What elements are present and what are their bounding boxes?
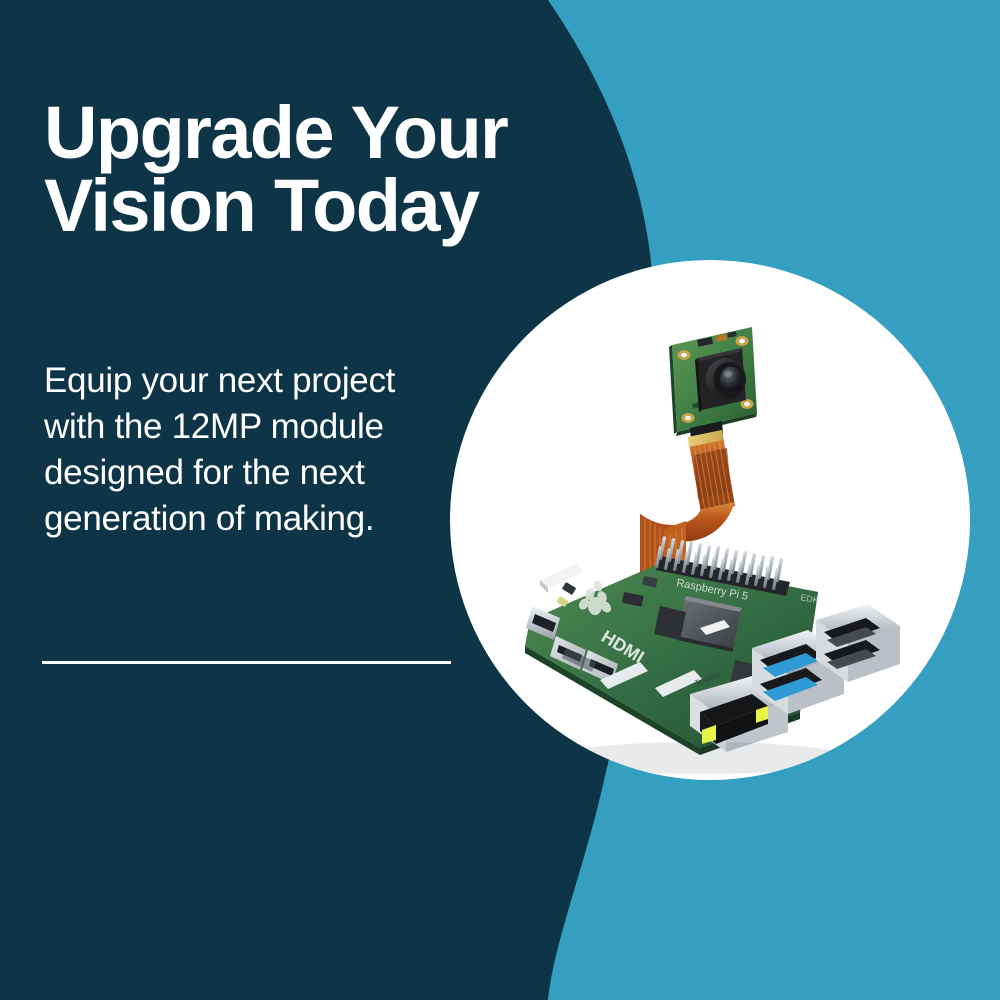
promo-poster: Raspberry Pi 5 HDMI	[0, 0, 1000, 1000]
camera-module	[669, 327, 757, 441]
raspberry-pi-camera-illustration: Raspberry Pi 5 HDMI	[0, 0, 1000, 1000]
product-image: Raspberry Pi 5 HDMI	[0, 0, 1000, 1000]
raspberry-pi-board: Raspberry Pi 5 HDMI	[525, 536, 900, 755]
